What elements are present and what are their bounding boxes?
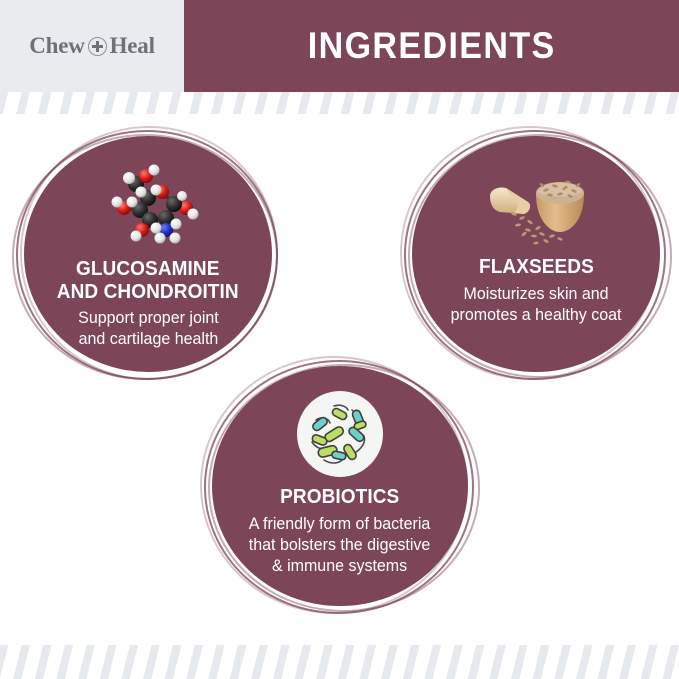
- ingredient-title-glucosamine: GLUCOSAMINE AND CHONDROITIN: [57, 258, 239, 303]
- brand-logo-text-right: Heal: [110, 33, 155, 59]
- ingredient-card-flaxseeds: FLAXSEEDS Moisturizes skin and promotes …: [412, 136, 660, 372]
- molecule-icon: [96, 158, 200, 250]
- title-line: AND CHONDROITIN: [57, 281, 239, 304]
- ingredient-desc-glucosamine: Support proper joint and cartilage healt…: [78, 308, 219, 350]
- brand-logo-text-left: Chew: [29, 33, 84, 59]
- page-title-panel: INGREDIENTS: [184, 0, 679, 92]
- ingredient-title-probiotics: PROBIOTICS: [280, 486, 399, 509]
- page-header: Chew Heal INGREDIENTS: [0, 0, 679, 92]
- page-title: INGREDIENTS: [308, 25, 556, 67]
- ingredient-card-glucosamine: GLUCOSAMINE AND CHONDROITIN Support prop…: [24, 136, 272, 372]
- desc-line: that bolsters the digestive: [249, 535, 430, 556]
- desc-line: promotes a healthy coat: [451, 305, 622, 326]
- ingredient-desc-probiotics: A friendly form of bacteria that bolster…: [249, 514, 430, 577]
- molecule-icon-svg: [96, 158, 200, 250]
- desc-line: Moisturizes skin and: [451, 284, 622, 305]
- desc-line: A friendly form of bacteria: [249, 514, 430, 535]
- bacteria-icon-svg: [296, 390, 384, 478]
- title-line: FLAXSEEDS: [479, 256, 594, 279]
- bacteria-icon: [296, 390, 384, 478]
- desc-line: Support proper joint: [78, 308, 219, 329]
- flaxseed-bowl-icon-svg: [480, 162, 592, 248]
- desc-line: & immune systems: [249, 556, 430, 577]
- ingredient-desc-flaxseeds: Moisturizes skin and promotes a healthy …: [451, 284, 622, 326]
- decorative-stripes-bottom: [0, 645, 679, 679]
- ingredient-title-flaxseeds: FLAXSEEDS: [479, 256, 594, 279]
- ingredient-card-probiotics: PROBIOTICS A friendly form of bacteria t…: [212, 366, 468, 606]
- plus-circle-icon: [88, 37, 107, 56]
- decorative-stripes-top: [0, 92, 679, 114]
- flaxseed-bowl-icon: [480, 162, 592, 248]
- brand-logo: Chew Heal: [29, 33, 155, 59]
- title-line: GLUCOSAMINE: [57, 258, 239, 281]
- desc-line: and cartilage health: [78, 329, 219, 350]
- brand-logo-panel: Chew Heal: [0, 0, 184, 92]
- ingredients-infographic: Chew Heal INGREDIENTS: [0, 0, 679, 679]
- title-line: PROBIOTICS: [280, 486, 399, 509]
